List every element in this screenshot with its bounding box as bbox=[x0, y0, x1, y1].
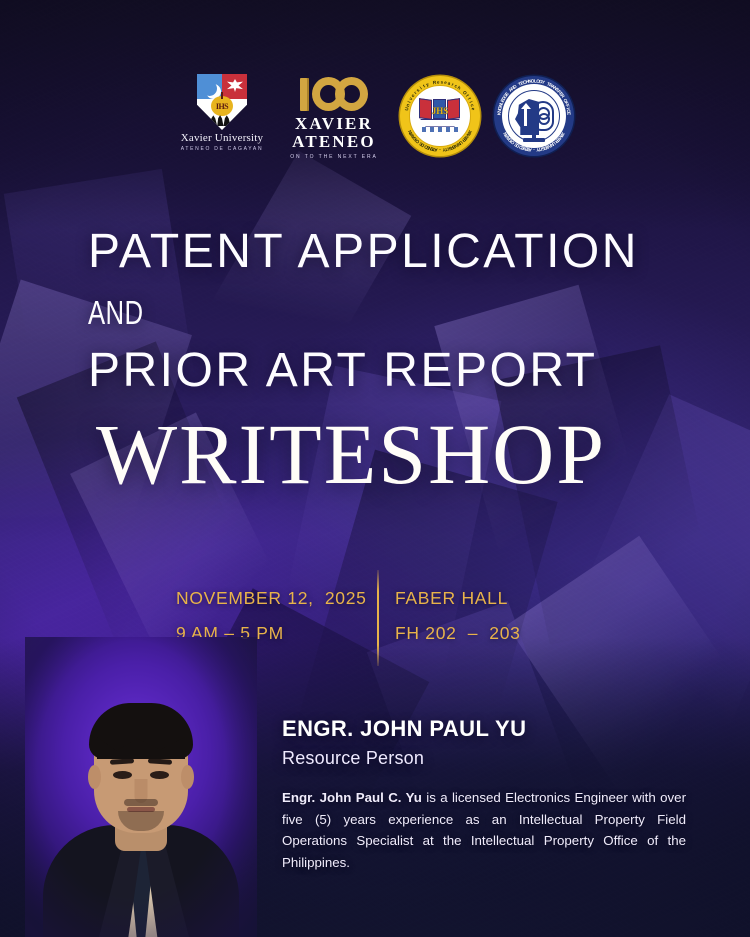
centennial-logo: XAVIER ATENEO ON TO THE NEXT ERA bbox=[282, 74, 386, 166]
centennial-name-line2: ATENEO bbox=[292, 133, 376, 151]
up-arrow-icon bbox=[524, 108, 527, 126]
event-date: NOVEMBER 12, 2025 bbox=[176, 590, 367, 608]
xavier-university-name: Xavier University bbox=[181, 133, 264, 145]
speaker-bio: Engr. John Paul C. Yu is a licensed Elec… bbox=[282, 787, 686, 873]
ktto-seal-icon: KNOWLEDGE AND TECHNOLOGY TRANSFER OFFICE… bbox=[494, 76, 574, 156]
centennial-numeral-icon bbox=[300, 74, 368, 114]
ship-sail-left bbox=[419, 98, 432, 120]
speaker-portrait bbox=[25, 637, 257, 937]
lamp-base bbox=[523, 138, 545, 142]
speaker-role: Resource Person bbox=[282, 749, 686, 767]
double-zero-infinity-icon bbox=[312, 77, 368, 111]
logo-row: IHS Xavier University ATENEO DE CAGAYAN … bbox=[0, 74, 750, 166]
xavier-university-caption: Xavier University ATENEO DE CAGAYAN bbox=[181, 133, 264, 152]
ihs-monogram-icon: IHS bbox=[211, 96, 233, 116]
xavier-university-shield-icon: IHS bbox=[197, 74, 247, 130]
event-location: FABER HALL FH 202 – 203 bbox=[395, 590, 521, 642]
jhs-monogram-icon: JHS bbox=[432, 106, 449, 116]
event-room: FH 202 – 203 bbox=[395, 625, 521, 643]
speaker-bio-name: Engr. John Paul C. Yu bbox=[282, 790, 422, 805]
event-schedule: NOVEMBER 12, 2025 9 AM – 5 PM bbox=[176, 590, 367, 642]
title-highlight-writeshop: WRITESHOP bbox=[96, 411, 708, 497]
university-research-office-logo: University Research OfficeXAVIER UNIVERS… bbox=[400, 74, 480, 166]
title-line-1: PATENT APPLICATION bbox=[88, 228, 708, 276]
knowledge-technology-transfer-office-logo: KNOWLEDGE AND TECHNOLOGY TRANSFER OFFICE… bbox=[494, 74, 574, 166]
title-conjunction: AND bbox=[88, 296, 572, 329]
speaker-info: ENGR. JOHN PAUL YU Resource Person Engr.… bbox=[282, 718, 686, 873]
water-waves-icon bbox=[422, 127, 458, 132]
ship-sail-right bbox=[447, 98, 460, 120]
xavier-university-logo: IHS Xavier University ATENEO DE CAGAYAN bbox=[176, 74, 268, 166]
event-venue: FABER HALL bbox=[395, 590, 521, 608]
xavier-university-subname: ATENEO DE CAGAYAN bbox=[181, 147, 264, 152]
details-divider bbox=[377, 570, 379, 666]
numeral-one-bar bbox=[300, 78, 309, 111]
seal-inner-uro: JHS bbox=[409, 85, 471, 147]
portrait-fade-mask bbox=[25, 637, 257, 937]
centennial-name-line1: XAVIER bbox=[295, 115, 373, 133]
ship-hull bbox=[420, 119, 460, 127]
title-line-2: PRIOR ART REPORT bbox=[88, 347, 708, 395]
university-research-office-seal-icon: University Research OfficeXAVIER UNIVERS… bbox=[400, 76, 480, 156]
poster-headline: PATENT APPLICATION AND PRIOR ART REPORT … bbox=[88, 228, 708, 497]
seal-inner-ktto bbox=[502, 84, 566, 148]
event-poster: IHS Xavier University ATENEO DE CAGAYAN … bbox=[0, 0, 750, 937]
centennial-tagline: ON TO THE NEXT ERA bbox=[290, 154, 377, 160]
crescent-moon-icon bbox=[202, 81, 217, 96]
speaker-name: ENGR. JOHN PAUL YU bbox=[282, 718, 686, 740]
